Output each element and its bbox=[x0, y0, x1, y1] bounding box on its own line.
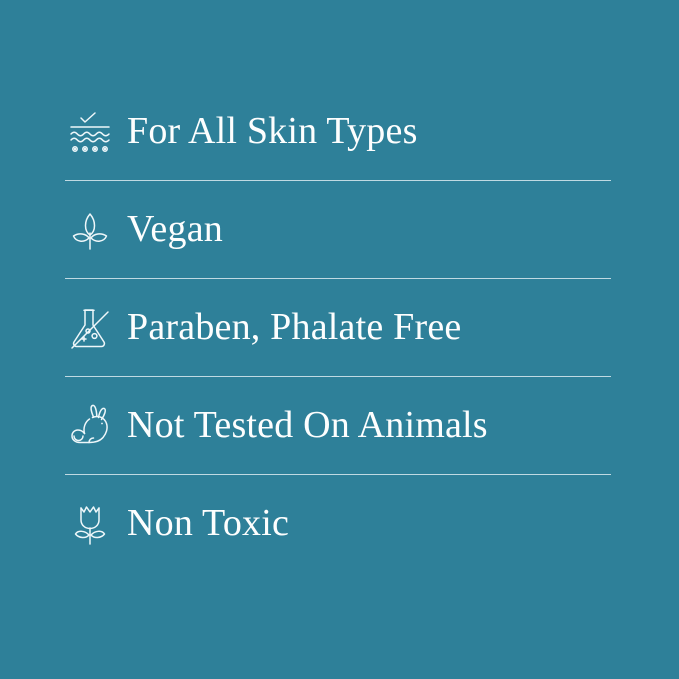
divider bbox=[65, 474, 611, 475]
skin-waves-check-icon bbox=[65, 104, 121, 160]
feature-label: For All Skin Types bbox=[127, 112, 418, 152]
divider bbox=[65, 278, 611, 279]
no-flask-icon bbox=[65, 300, 121, 356]
feature-list: For All Skin Types Vegan bbox=[65, 83, 611, 572]
divider bbox=[65, 180, 611, 181]
feature-label: Not Tested On Animals bbox=[127, 406, 488, 446]
leaf-sprout-icon bbox=[65, 202, 121, 258]
feature-row-not-tested: Not Tested On Animals bbox=[65, 377, 611, 474]
feature-row-vegan: Vegan bbox=[65, 181, 611, 278]
feature-label: Non Toxic bbox=[127, 504, 289, 544]
rabbit-icon bbox=[65, 398, 121, 454]
feature-row-non-toxic: Non Toxic bbox=[65, 475, 611, 572]
feature-label: Paraben, Phalate Free bbox=[127, 308, 461, 348]
feature-label: Vegan bbox=[127, 210, 223, 250]
feature-row-paraben-free: Paraben, Phalate Free bbox=[65, 279, 611, 376]
divider bbox=[65, 376, 611, 377]
tulip-flower-icon bbox=[65, 496, 121, 552]
feature-row-skin-types: For All Skin Types bbox=[65, 83, 611, 180]
product-feature-panel: For All Skin Types Vegan bbox=[0, 0, 679, 679]
